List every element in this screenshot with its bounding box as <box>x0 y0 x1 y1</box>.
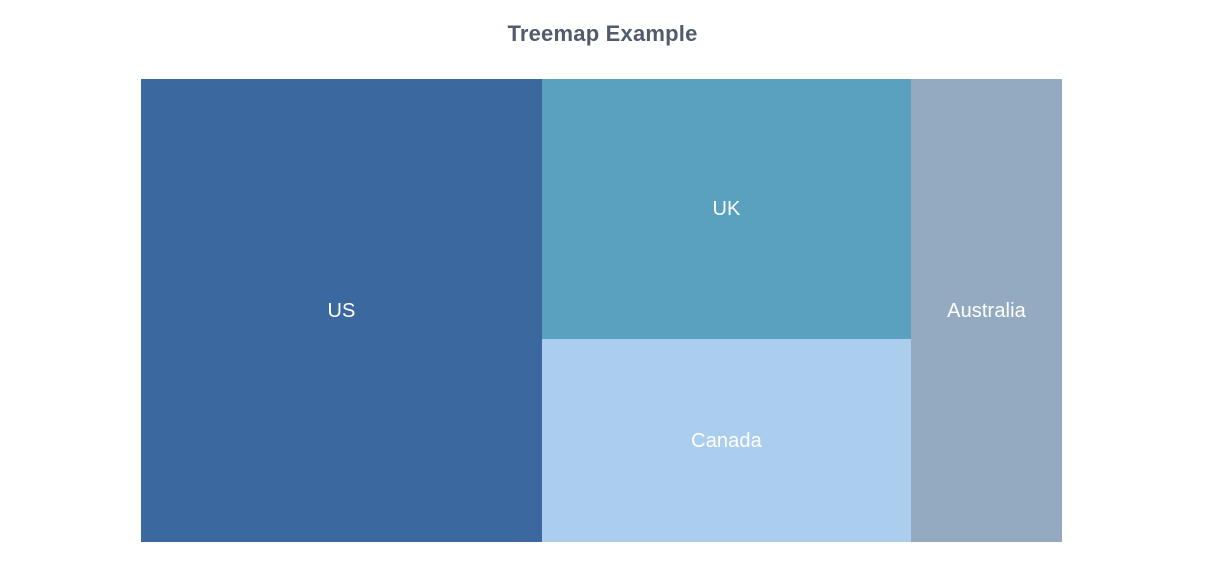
treemap-tile-label-uk: UK <box>713 197 741 221</box>
treemap-figure: Treemap Example US UK Canada Australia <box>0 0 1220 586</box>
treemap-tile-us[interactable]: US <box>141 79 542 542</box>
treemap-tile-label-canada: Canada <box>691 429 762 453</box>
treemap-tile-label-australia: Australia <box>947 299 1026 323</box>
chart-title: Treemap Example <box>0 19 1205 49</box>
treemap-plot-area: US UK Canada Australia <box>141 79 1062 542</box>
treemap-tile-canada[interactable]: Canada <box>542 339 911 542</box>
treemap-tile-australia[interactable]: Australia <box>911 79 1062 542</box>
treemap-tile-label-us: US <box>328 299 356 323</box>
treemap-tile-uk[interactable]: UK <box>542 79 911 339</box>
